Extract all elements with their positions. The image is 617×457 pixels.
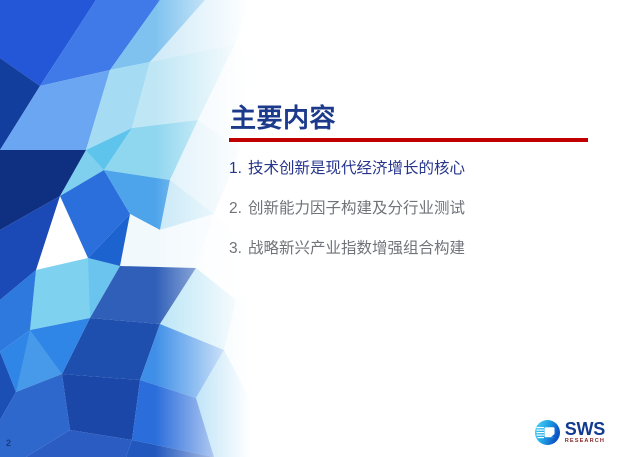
agenda-item-1-label: 技术创新是现代经济增长的核心 (248, 160, 465, 178)
sws-circle-icon (534, 419, 561, 446)
agenda-item-3[interactable]: 3. 战略新兴产业指数增强组合构建 (229, 240, 594, 258)
slide: 2 主要内容 1. 技术创新是现代经济增长的核心 2. 创新能力因子构建及分行业… (0, 0, 617, 457)
slide-content: 主要内容 1. 技术创新是现代经济增长的核心 2. 创新能力因子构建及分行业测试… (229, 104, 594, 258)
page-number: 2 (6, 438, 11, 448)
agenda-item-1[interactable]: 1. 技术创新是现代经济增长的核心 (229, 160, 594, 178)
brand-logo: SWS RESEARCH (534, 419, 605, 446)
agenda-list: 1. 技术创新是现代经济增长的核心 2. 创新能力因子构建及分行业测试 3. 战… (229, 160, 594, 257)
agenda-item-1-number: 1. (229, 160, 248, 178)
logo-secondary-text: RESEARCH (565, 439, 605, 445)
agenda-item-3-label: 战略新兴产业指数增强组合构建 (248, 240, 465, 258)
page-title: 主要内容 (229, 104, 594, 132)
low-poly-background-graphic (0, 0, 250, 457)
agenda-item-2-label: 创新能力因子构建及分行业测试 (248, 200, 465, 218)
agenda-item-3-number: 3. (229, 240, 248, 258)
logo-primary-text: SWS (565, 420, 605, 438)
agenda-item-2-number: 2. (229, 200, 248, 218)
logo-wordmark: SWS RESEARCH (565, 420, 605, 445)
agenda-item-2[interactable]: 2. 创新能力因子构建及分行业测试 (229, 200, 594, 218)
title-underline-rule (229, 138, 588, 142)
